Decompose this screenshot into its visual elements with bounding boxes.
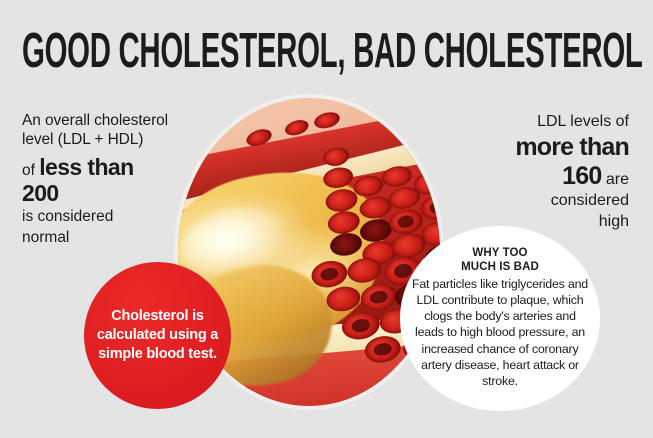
right-number-line: 160 are <box>441 162 629 191</box>
left-emphasis-text: less than <box>39 154 133 180</box>
left-tail-line-1: is considered <box>22 208 202 227</box>
page-title: GOOD CHOLESTEROL, BAD CHOLESTEROL <box>22 26 388 76</box>
red-callout-circle: Cholesterol is calculated using a simple… <box>84 262 231 409</box>
white-callout-body: Fat particles like triglycerides and LDL… <box>412 276 588 389</box>
right-stat-block: LDL levels of more than 160 are consider… <box>441 112 629 231</box>
white-callout-heading: WHY TOO MUCH IS BAD <box>461 246 539 274</box>
right-emphasis-text: more than <box>441 133 629 161</box>
left-tail-line-2: normal <box>22 229 202 248</box>
white-callout-circle: WHY TOO MUCH IS BAD Fat particles like t… <box>400 226 600 411</box>
right-number: 160 <box>562 162 601 190</box>
left-number: 200 <box>22 181 202 206</box>
right-tail-line-1: considered <box>441 191 629 211</box>
left-lead-line-2: level (LDL + HDL) <box>22 131 202 150</box>
left-lead-line-1: An overall cholesterol <box>22 112 202 131</box>
right-are-label: are <box>606 171 629 188</box>
left-stat-block: An overall cholesterol level (LDL + HDL)… <box>22 112 202 248</box>
left-of-label: of <box>22 162 35 179</box>
right-lead-text: LDL levels of <box>441 112 629 132</box>
white-callout-heading-line-2: MUCH IS BAD <box>461 260 539 274</box>
cholesterol-infographic: GOOD CHOLESTEROL, BAD CHOLESTEROL <box>0 0 653 438</box>
right-tail-line-2: high <box>441 212 629 232</box>
white-callout-heading-line-1: WHY TOO <box>461 246 539 260</box>
left-emphasis-line: of less than <box>22 153 202 181</box>
red-callout-text: Cholesterol is calculated using a simple… <box>84 307 231 364</box>
